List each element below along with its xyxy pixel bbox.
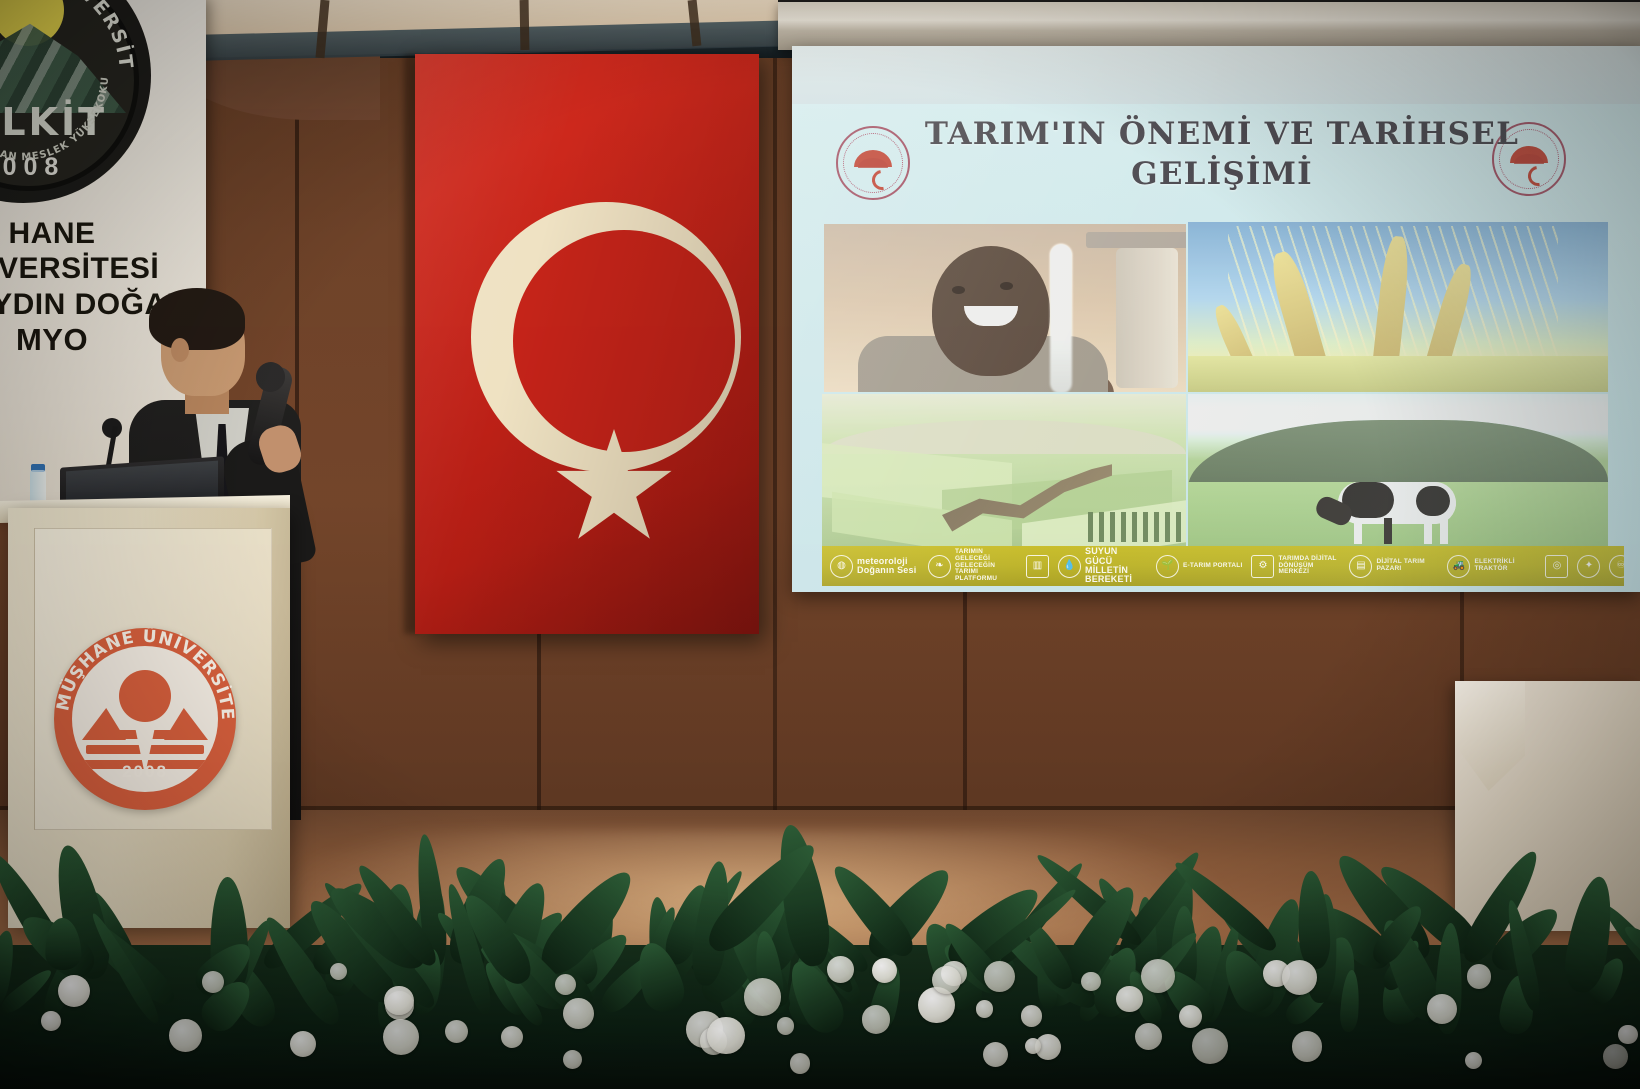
- elektrikli-traktor-logo-label: ELEKTRİKLİ TRAKTÖR: [1474, 559, 1536, 573]
- eye: [952, 286, 965, 294]
- suyun-gucu-logo-label: SUYUN GÜCÜ MİLLETİN BEREKETİ: [1085, 547, 1147, 585]
- photo-art: [1188, 394, 1608, 546]
- stage-light-glow: [260, 830, 1240, 1010]
- dijital-tarim-pazari-icon: ▤: [1349, 555, 1372, 578]
- cow-patch: [1416, 486, 1450, 516]
- slide-photo-wheat-ears: [1188, 222, 1608, 392]
- presentation-photo-scene: KELKİT 2008 ÜNİVERSİTESİ AYDIN DOĞAN MES…: [0, 0, 1640, 1089]
- slide-logo-strip: ◍meteoroloji Doğanın Sesi❧TARIMIN GELECE…: [822, 546, 1624, 586]
- dijital-tarim-pazari-logo-label: DİJİTAL TARIM PAZARI: [1376, 559, 1438, 573]
- meteoroloji-icon: ◍: [830, 555, 853, 578]
- meteoroloji-logo: ◍meteoroloji Doğanın Sesi: [830, 555, 919, 578]
- svg-text:AYDIN DOĞAN MESLEK YÜKSEKOKULU: AYDIN DOĞAN MESLEK YÜKSEKOKULU: [0, 0, 111, 163]
- gelecege-nefes-icon: ♾: [1609, 555, 1624, 578]
- photo-art: [1188, 222, 1608, 392]
- projection-screen: TARIM'IN ÖNEMİ VE TARİHSEL GELİŞİMİ: [792, 46, 1640, 592]
- hair: [149, 288, 245, 350]
- slide-photo-farm-fields: [822, 394, 1186, 546]
- ceiling-beam: [520, 0, 530, 50]
- photo-art: [822, 394, 1186, 546]
- tarimin-gelecegi-logo-label: TARIMIN GELECEĞİ GELECEĞİN TARIMI PLATFO…: [955, 549, 1017, 583]
- presentation-slide: TARIM'IN ÖNEMİ VE TARİHSEL GELİŞİMİ: [792, 104, 1640, 592]
- tarimin-gelecegi-icon: ❧: [928, 555, 951, 578]
- logo-arc-text: ÜNİVERSİTESİ AYDIN DOĞAN MESLEK YÜKSEKOK…: [0, 0, 143, 195]
- water-stream: [1050, 244, 1072, 392]
- turkish-flag: [415, 54, 759, 634]
- e-tarim-portali-logo: 🌱E-TARIM PORTALI: [1156, 555, 1242, 578]
- orman-icon: ✦: [1577, 555, 1600, 578]
- suyun-gucu-icon: 💧: [1058, 555, 1081, 578]
- suyun-gucu-logo: 💧SUYUN GÜCÜ MİLLETİN BEREKETİ: [1058, 547, 1147, 585]
- tarimda-dijital-donusum-icon: ⚙: [1251, 555, 1274, 578]
- water-pipe: [1086, 232, 1186, 248]
- kelkit-myo-logo: KELKİT 2008 ÜNİVERSİTESİ AYDIN DOĞAN MES…: [0, 0, 151, 203]
- cow-leg: [1384, 518, 1392, 544]
- milk-can: [1116, 248, 1178, 388]
- cow-leg: [1424, 518, 1432, 544]
- svg-text:GÜMÜŞHANE ÜNİVERSİTESİ: GÜMÜŞHANE ÜNİVERSİTESİ: [54, 628, 236, 721]
- logo-arc-text: GÜMÜŞHANE ÜNİVERSİTESİ: [54, 628, 236, 810]
- meteoroloji-logo-label: meteoroloji Doğanın Sesi: [857, 557, 919, 576]
- tarimda-dijital-donusum-logo-label: TARIMDA DİJİTAL DÖNÜŞÜM MERKEZİ: [1278, 556, 1340, 576]
- svg-text:ÜNİVERSİTESİ: ÜNİVERSİTESİ: [0, 0, 137, 71]
- ear: [171, 338, 189, 362]
- tree-line: [1088, 512, 1184, 542]
- e-tarim-portali-logo-label: E-TARIM PORTALI: [1183, 563, 1242, 570]
- eye: [1000, 282, 1013, 290]
- dijital-tarim-pazari-logo: ▤DİJİTAL TARIM PAZARI: [1349, 555, 1438, 578]
- gelecege-nefes-logo: ♾GELECEĞE NEFES: [1609, 555, 1624, 578]
- e-tarim-portali-icon: 🌱: [1156, 555, 1179, 578]
- ministry-emblem-left: [836, 126, 910, 200]
- podium-logo-arc-label: GÜMÜŞHANE ÜNİVERSİTESİ: [54, 628, 236, 721]
- elektrikli-traktor-logo: 🚜ELEKTRİKLİ TRAKTÖR: [1447, 555, 1536, 578]
- cow-leg: [1440, 518, 1448, 544]
- slide-title-line-2: GELİŞİMİ: [912, 154, 1532, 194]
- tarim-kredi-logo: ◎: [1545, 555, 1568, 578]
- elektrikli-traktor-icon: 🚜: [1447, 555, 1470, 578]
- slide-title: TARIM'IN ÖNEMİ VE TARİHSEL GELİŞİMİ: [912, 114, 1532, 195]
- orman-logo: ✦: [1577, 555, 1600, 578]
- tarimda-dijital-donusum-logo: ⚙TARIMDA DİJİTAL DÖNÜŞÜM MERKEZİ: [1251, 555, 1340, 578]
- tarimin-gelecegi-logo: ❧TARIMIN GELECEĞİ GELECEĞİN TARIMI PLATF…: [928, 549, 1017, 583]
- cow-leg: [1354, 518, 1362, 544]
- projector-screen-housing: [778, 2, 1640, 50]
- kitap-logo: ▥: [1026, 555, 1049, 578]
- slide-title-line-1: TARIM'IN ÖNEMİ VE TARİHSEL: [912, 114, 1532, 154]
- flag-shading: [415, 54, 759, 634]
- wheat-field: [1188, 356, 1608, 392]
- screen-top-margin: [792, 46, 1640, 104]
- podium-logo-year: 2008: [54, 762, 236, 782]
- slide-photo-child-drinking-water: [824, 224, 1186, 392]
- forest: [1188, 420, 1608, 488]
- slide-photo-grazing-cow: [1188, 394, 1608, 546]
- photo-art: [824, 224, 1186, 392]
- kitap-icon: ▥: [1026, 555, 1049, 578]
- banner-line-1: HANE ÜNİVERSİTESİ: [0, 216, 202, 287]
- tarim-kredi-icon: ◎: [1545, 555, 1568, 578]
- gumushane-university-logo: GÜMÜŞHANE ÜNİVERSİTESİ 2008: [54, 628, 236, 810]
